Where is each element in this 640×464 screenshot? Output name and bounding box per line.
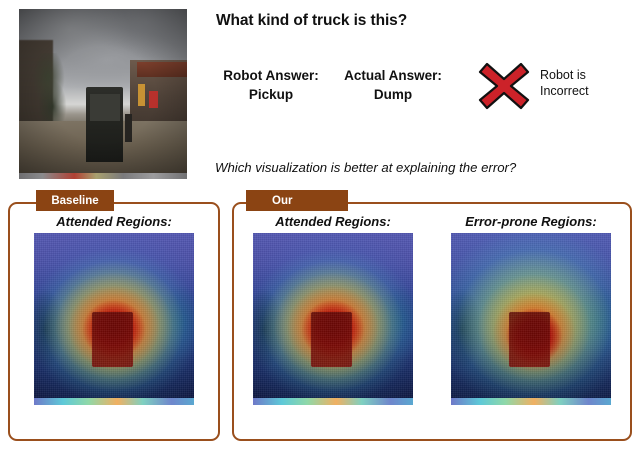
heatmap-strip	[34, 398, 194, 405]
verdict-text: Robot is Incorrect	[540, 67, 589, 99]
baseline-visualizations: Attended Regions:	[10, 214, 218, 449]
actual-answer-value: Dump	[334, 85, 452, 104]
question-section: What kind of truck is this? Robot Answer…	[0, 0, 640, 188]
photo-bottom-strip	[19, 173, 187, 179]
viz-baseline-attended: Attended Regions:	[34, 214, 194, 405]
heatmap-strip	[451, 398, 611, 405]
tab-label-baseline[interactable]: Baseline	[36, 190, 114, 211]
actual-answer-block: Actual Answer: Dump	[334, 66, 452, 104]
panel-our: Our Attended Regions: Error-prone Region…	[232, 202, 632, 441]
heatmap-grain	[34, 233, 194, 405]
robot-answer-label: Robot Answer:	[212, 66, 330, 85]
verdict-line-1: Robot is	[540, 67, 589, 83]
question-title: What kind of truck is this?	[216, 12, 407, 30]
viz-our-error-prone: Error-prone Regions:	[451, 214, 611, 405]
followup-question: Which visualization is better at explain…	[215, 160, 516, 175]
robot-answer-block: Robot Answer: Pickup	[212, 66, 330, 104]
tab-label-our[interactable]: Our	[246, 190, 348, 211]
photo-vignette	[19, 9, 187, 179]
red-cross-icon	[478, 62, 530, 110]
our-visualizations: Attended Regions: Error-prone Regions:	[234, 214, 630, 449]
verdict-block: Robot is Incorrect	[478, 62, 630, 114]
error-heatmap	[451, 233, 611, 405]
robot-answer-value: Pickup	[212, 85, 330, 104]
heatmap-strip	[253, 398, 413, 405]
verdict-line-2: Incorrect	[540, 83, 589, 99]
viz-caption: Attended Regions:	[253, 214, 413, 229]
viz-caption: Error-prone Regions:	[451, 214, 611, 229]
viz-our-attended: Attended Regions:	[253, 214, 413, 405]
source-image	[19, 9, 187, 179]
panel-baseline: Baseline Attended Regions:	[8, 202, 220, 441]
attention-heatmap	[34, 233, 194, 405]
heatmap-grain	[451, 233, 611, 405]
attention-heatmap	[253, 233, 413, 405]
viz-caption: Attended Regions:	[34, 214, 194, 229]
actual-answer-label: Actual Answer:	[334, 66, 452, 85]
heatmap-grain	[253, 233, 413, 405]
